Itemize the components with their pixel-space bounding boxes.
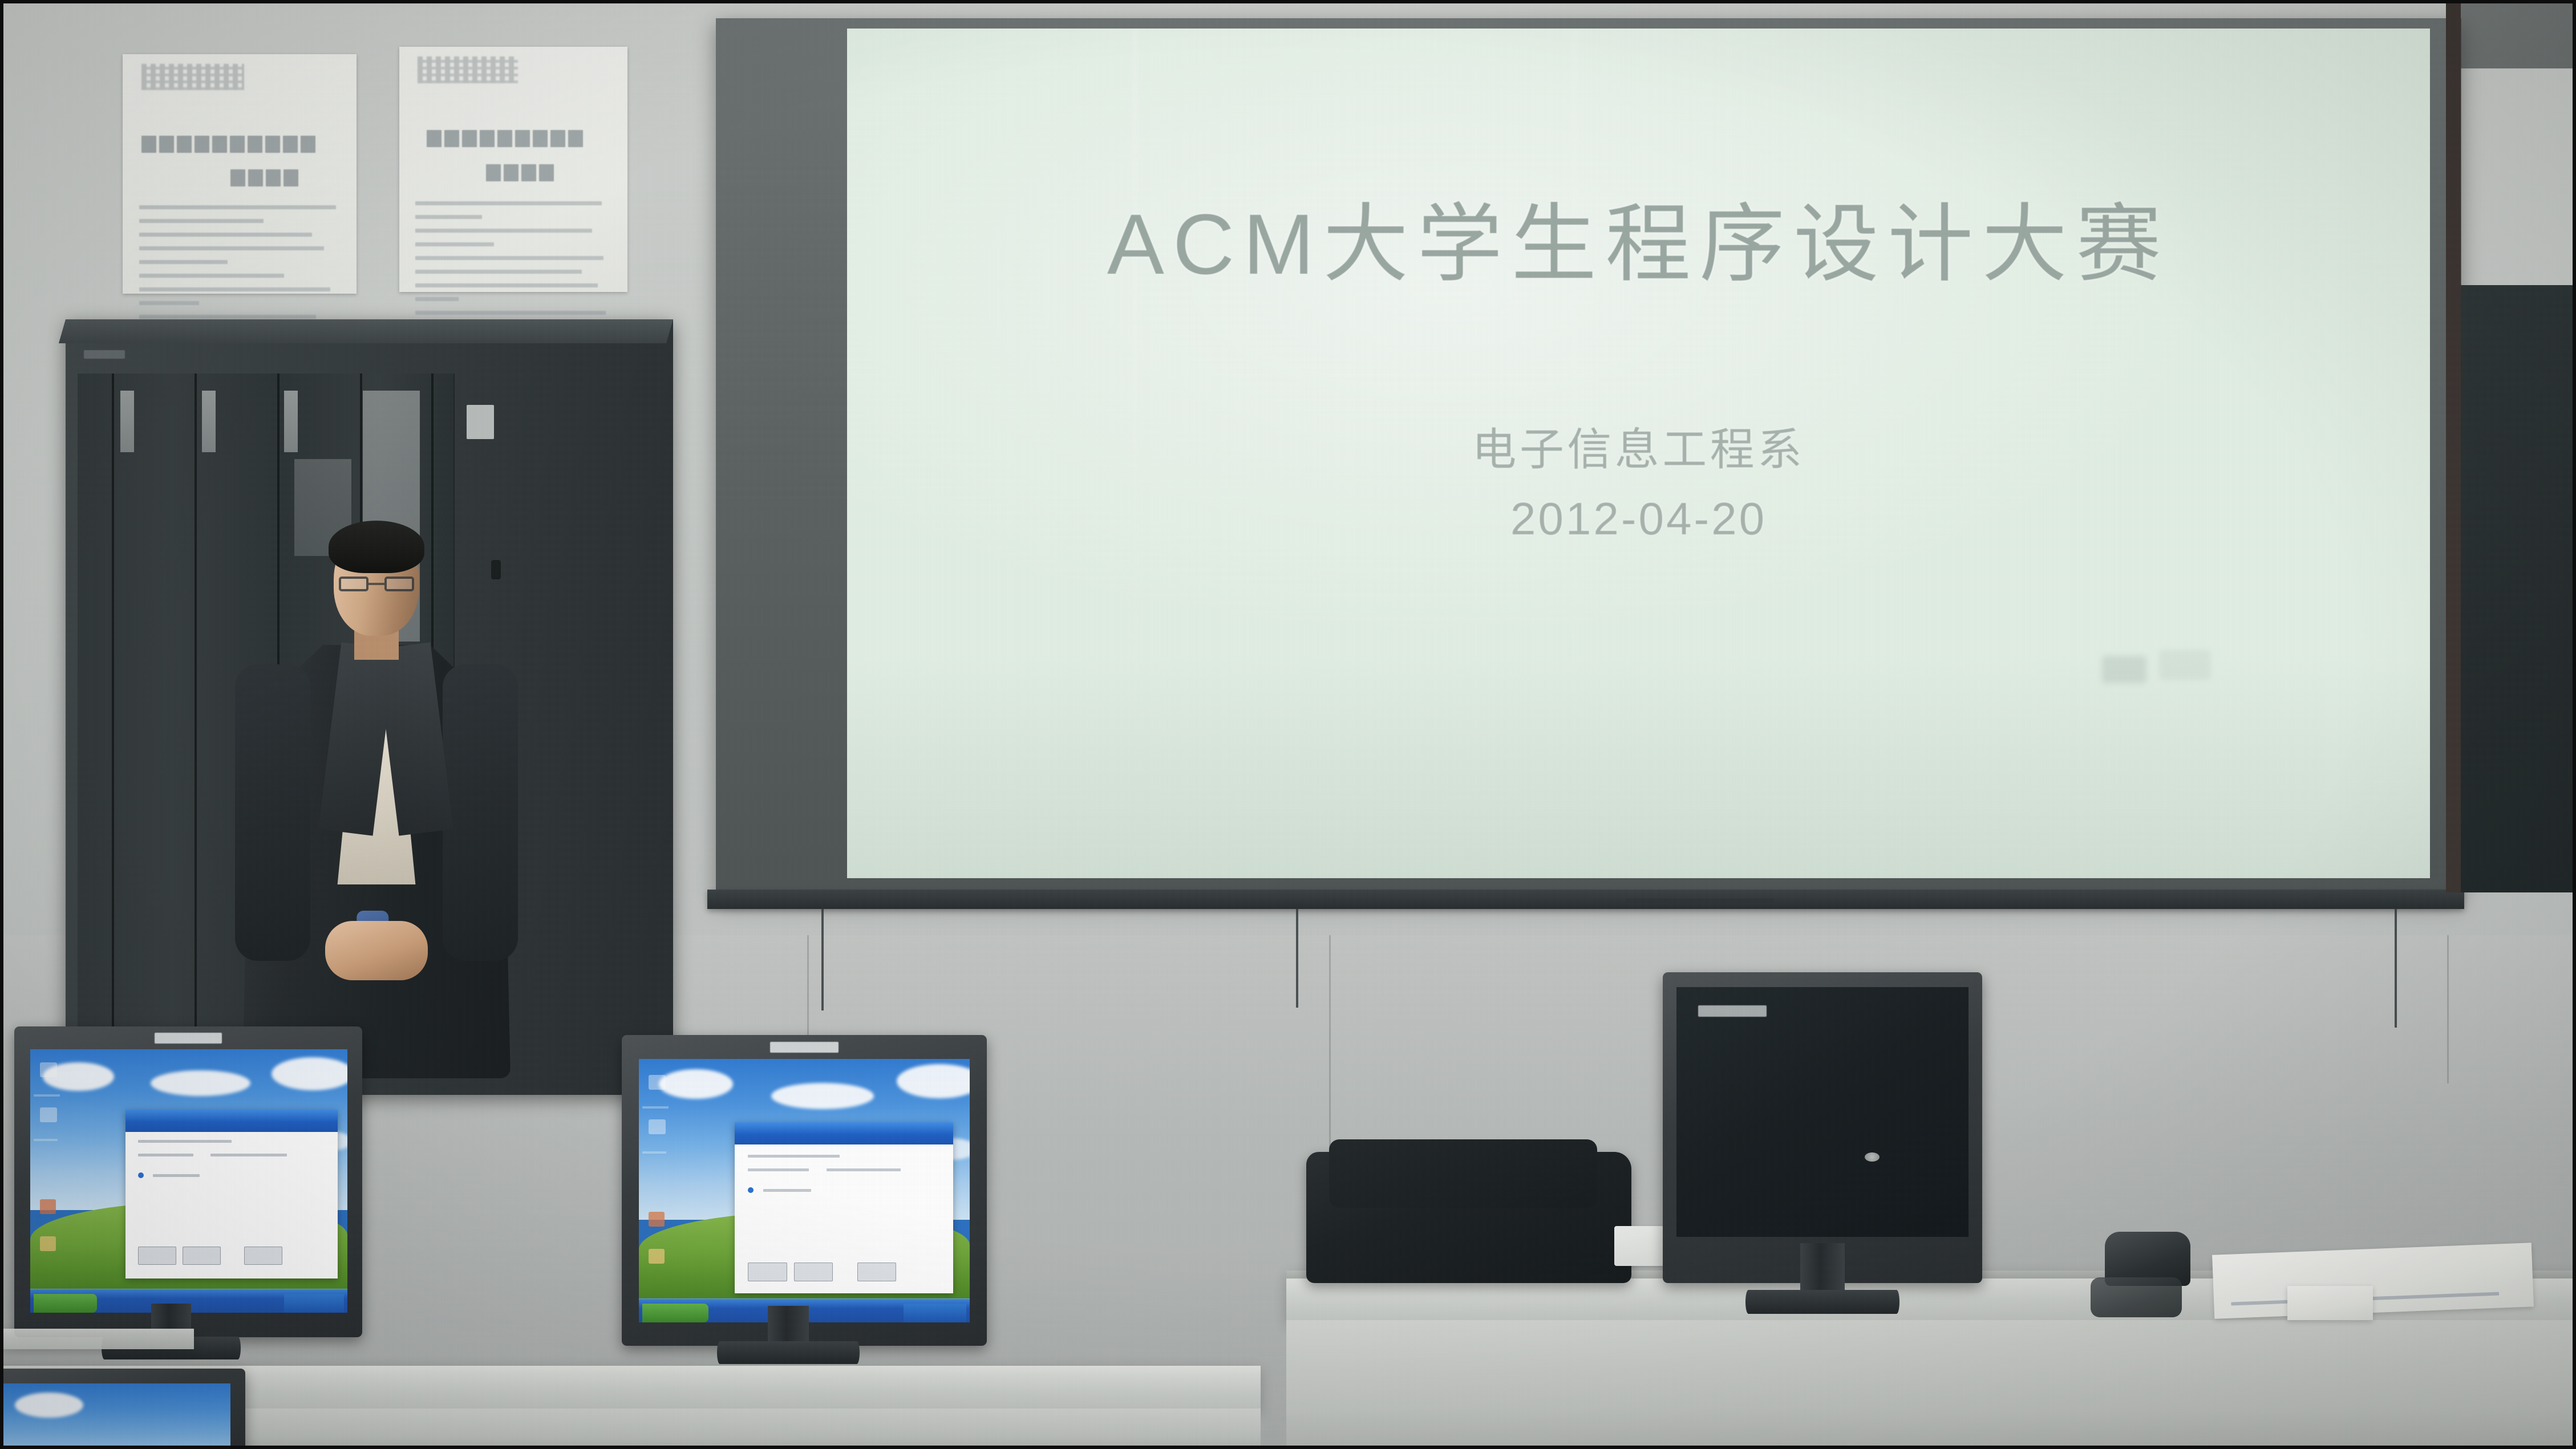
dark-board-top	[2461, 0, 2576, 68]
desktop-icon-label	[34, 1094, 60, 1097]
laptop-bag[interactable]	[1306, 1152, 1631, 1283]
cloud-icon	[771, 1083, 874, 1109]
poster-letterhead-icon	[418, 56, 518, 83]
dialog-button[interactable]	[748, 1263, 787, 1281]
bag-flap	[1329, 1139, 1597, 1208]
monitor-left[interactable]	[14, 1026, 362, 1337]
system-tray[interactable]	[904, 1304, 966, 1322]
left-desk-strip	[0, 1329, 194, 1349]
dialog-button[interactable]	[794, 1263, 833, 1281]
monitor-right-screen	[1676, 987, 1969, 1237]
desktop-icon-label	[642, 1151, 666, 1154]
projection-screen-surface: ACM大学生程序设计大赛 电子信息工程系 2012-04-20	[847, 29, 2430, 878]
desktop-icon-label	[34, 1139, 58, 1141]
presenter-arm-right	[443, 664, 518, 961]
right-desk-front	[1286, 1320, 2576, 1449]
monitor-center-stand-base	[717, 1341, 860, 1364]
desktop-icon[interactable]	[649, 1249, 665, 1264]
presenter-arm-left	[235, 664, 310, 961]
screen-bottom-bar	[707, 890, 2464, 909]
lenovo-logo-icon	[155, 1033, 222, 1044]
monitor-center[interactable]	[622, 1035, 987, 1346]
rack-slat	[112, 374, 114, 1056]
start-button[interactable]	[34, 1294, 97, 1312]
screen-hang-rod	[821, 908, 824, 1010]
monitor-corner[interactable]	[0, 1369, 245, 1449]
dialog-option-label	[153, 1174, 200, 1177]
presenter-hands	[325, 921, 428, 980]
desktop-icon[interactable]	[40, 1199, 56, 1214]
dialog-text-line	[138, 1140, 232, 1143]
dialog-radio[interactable]	[138, 1172, 144, 1178]
projection-screen-frame: ACM大学生程序设计大赛 电子信息工程系 2012-04-20	[716, 18, 2461, 899]
dialog-button[interactable]	[244, 1247, 282, 1265]
dialog-titlebar[interactable]	[125, 1110, 338, 1131]
slide-organization: 电子信息工程系	[847, 422, 2430, 478]
rack-label	[467, 405, 494, 439]
rack-top-panel	[59, 319, 673, 343]
rack-brand-logo	[84, 350, 125, 359]
wall-poster-right	[399, 47, 627, 292]
poster-right-body	[415, 201, 611, 324]
lenovo-logo-icon	[1698, 1005, 1767, 1017]
poster-left-title-line2	[230, 169, 343, 186]
cloud-icon	[151, 1070, 250, 1096]
desk-cables	[2091, 1277, 2182, 1317]
desktop-icon-label	[642, 1106, 669, 1109]
system-tray[interactable]	[284, 1294, 345, 1312]
poster-right-title	[427, 130, 614, 147]
desktop-icon[interactable]	[649, 1119, 666, 1134]
poster-left-body	[139, 205, 341, 328]
dark-board	[2461, 285, 2576, 892]
power-led-icon	[1865, 1152, 1880, 1162]
lenovo-logo-icon	[770, 1042, 839, 1053]
desktop-icon[interactable]	[40, 1236, 56, 1251]
dialog-button[interactable]	[138, 1247, 176, 1265]
screen-cable	[1626, 899, 1774, 904]
monitor-right-stand-base	[1745, 1290, 1899, 1314]
dark-board-frame	[2446, 0, 2461, 892]
monitor-corner-screen	[0, 1383, 230, 1449]
desktop-icon[interactable]	[649, 1212, 665, 1227]
dialog-button[interactable]	[857, 1263, 897, 1281]
rack-vent	[120, 391, 134, 452]
start-button[interactable]	[642, 1304, 708, 1322]
paper-small	[2287, 1286, 2373, 1320]
poster-right-title-line2	[486, 164, 605, 181]
dialog-text-line	[210, 1154, 287, 1156]
screen-blemish	[2102, 656, 2146, 683]
papers-stack[interactable]	[2212, 1243, 2534, 1318]
desktop-icon[interactable]	[40, 1107, 57, 1122]
presenter-head	[334, 527, 419, 636]
poster-left-title	[141, 136, 338, 153]
dialog-titlebar[interactable]	[735, 1122, 953, 1144]
dialog-text-line	[827, 1168, 901, 1171]
monitor-left-screen	[30, 1049, 347, 1313]
rack-vent	[202, 391, 216, 452]
dialog-window[interactable]	[735, 1122, 953, 1293]
wall-poster-left	[123, 54, 357, 294]
cloud-icon	[15, 1393, 83, 1418]
dialog-option-label	[763, 1189, 811, 1192]
monitor-right[interactable]	[1663, 972, 1982, 1283]
screen-shade	[847, 657, 2430, 878]
dialog-text-line	[748, 1155, 840, 1158]
desktop-icon[interactable]	[649, 1075, 666, 1090]
photo-scene: ACM大学生程序设计大赛 电子信息工程系 2012-04-20	[0, 0, 2576, 1449]
desktop-icon[interactable]	[40, 1062, 57, 1077]
dialog-text-line	[748, 1168, 809, 1171]
rack-slat	[195, 374, 197, 1056]
glasses-icon	[339, 577, 414, 592]
dialog-text-line	[138, 1154, 193, 1156]
dialog-radio[interactable]	[748, 1187, 754, 1193]
dialog-window[interactable]	[125, 1110, 338, 1278]
presenter-hair	[329, 521, 424, 573]
poster-letterhead-icon	[141, 64, 244, 90]
screen-hang-rod	[2395, 908, 2397, 1028]
monitor-center-screen	[639, 1059, 970, 1322]
dialog-button[interactable]	[183, 1247, 221, 1265]
screen-hang-rod	[1296, 908, 1298, 1008]
slide-date: 2012-04-20	[847, 490, 2430, 547]
rack-vent	[284, 391, 298, 452]
slide-title: ACM大学生程序设计大赛	[847, 200, 2430, 290]
cloud-icon	[272, 1057, 347, 1090]
wall-seam	[2447, 935, 2449, 1083]
screen-blemish	[2159, 650, 2210, 680]
